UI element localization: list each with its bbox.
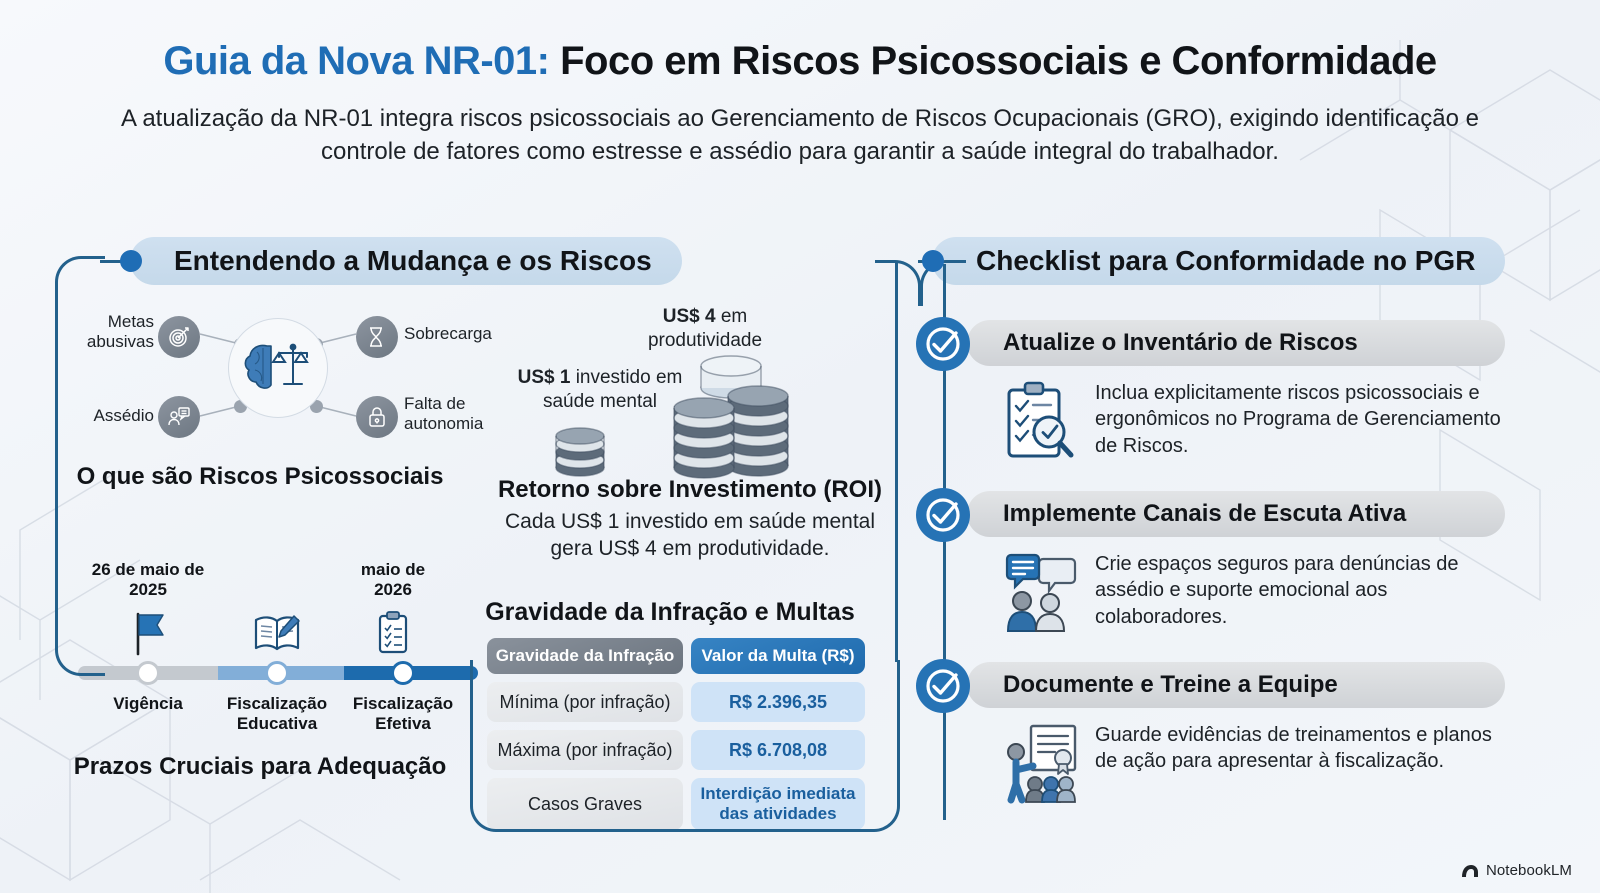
roi-title: Retorno sobre Investimento (ROI) [480,476,900,504]
right-panel-header: Checklist para Conformidade no PGR [932,237,1505,285]
clipboard-magnifier-icon [1003,380,1079,462]
clipboard-check-icon [375,610,411,661]
check-circle-icon [915,487,971,543]
harassment-icon [158,396,200,438]
checklist-title-3: Documente e Treine a Equipe [967,662,1505,708]
footer-brand-label: NotebookLM [1486,862,1572,879]
footer-brand: NotebookLM [1461,862,1572,879]
header: Guia da Nova NR-01: Foco em Riscos Psico… [0,0,1600,168]
fines-table-title: Gravidade da Infração e Multas [460,598,880,627]
hourglass-icon [356,316,398,358]
left-pill-dot [120,250,142,272]
page-title-rest: Foco em Riscos Psicossociais e Conformid… [549,39,1436,83]
brain-scales-icon [228,318,328,418]
check-circle-icon [915,316,971,372]
checklist-body-2: Crie espaços seguros para denúncias de a… [1003,551,1515,633]
page-subtitle: A atualização da NR-01 integra riscos ps… [90,102,1510,168]
roi-description: Cada US$ 1 investido em saúde mental ger… [490,508,890,563]
checklist-body-3: Guarde evidências de treinamentos e plan… [1003,722,1515,804]
target-icon [158,316,200,358]
timeline-name-3: Fiscalização Efetiva [343,694,463,735]
middle-panel-connector-corner [875,260,921,306]
timeline-knob-2 [265,661,289,685]
risk-label-sobrecarga: Sobrecarga [404,324,514,344]
coin-stack-large-icon [656,340,806,488]
checklist-text-3: Guarde evidências de treinamentos e plan… [1095,722,1515,775]
right-pill-label: Checklist para Conformidade no PGR [932,237,1505,285]
training-presentation-icon [1003,722,1079,804]
timeline-name-2: Fiscalização Educativa [217,694,337,735]
risk-diagram: Metas abusivas Sobrecarga Assédio Falta … [78,296,478,456]
check-circle-icon [915,658,971,714]
people-chat-icon [1003,551,1079,633]
timeline-date-1: 26 de maio de 2025 [88,560,208,601]
checklist-body-1: Inclua explicitamente riscos psicossocia… [1003,380,1515,462]
infographic-stage: Guia da Nova NR-01: Foco em Riscos Psico… [0,0,1600,893]
notebooklm-logo-icon [1461,863,1479,879]
flag-icon [130,610,166,661]
checklist-title-2: Implemente Canais de Escuta Ativa [967,491,1505,537]
book-pencil-icon [252,610,302,661]
coin-stack-small-icon [548,406,612,484]
timeline-date-3: maio de 2026 [343,560,443,601]
left-panel-header: Entendendo a Mudança e os Riscos [130,237,682,285]
page-title: Guia da Nova NR-01: Foco em Riscos Psico… [60,38,1540,84]
risk-label-autonomia: Falta de autonomia [404,394,504,435]
middle-panel-connector [470,660,900,832]
timeline-knob-3 [391,661,415,685]
page-title-accent: Guia da Nova NR-01: [163,39,549,83]
left-panel-connector [55,256,105,676]
checklist-text-1: Inclua explicitamente riscos psicossocia… [1095,380,1515,459]
middle-panel-connector-top [895,262,898,662]
right-pill-dot [922,250,944,272]
risk-diagram-caption: O que são Riscos Psicossociais [60,462,460,492]
left-pill-label: Entendendo a Mudança e os Riscos [130,237,682,285]
timeline-caption: Prazos Cruciais para Adequação [60,752,460,782]
checklist-title-1: Atualize o Inventário de Riscos [967,320,1505,366]
checklist-text-2: Crie espaços seguros para denúncias de a… [1095,551,1515,630]
lock-icon [356,396,398,438]
timeline-name-1: Vigência [88,694,208,714]
timeline-knob-1 [136,661,160,685]
